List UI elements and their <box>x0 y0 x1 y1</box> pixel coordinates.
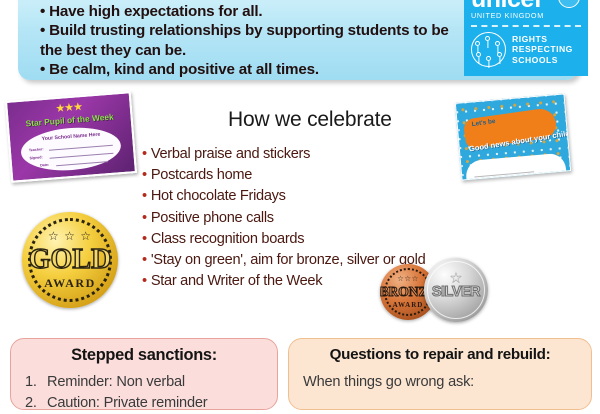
celebrate-item-text: Hot chocolate Fridays <box>151 188 286 204</box>
bullet-glyph: • <box>142 210 147 226</box>
sanctions-list-item: 1. Reminder: Non verbal <box>25 372 271 393</box>
expectation-line-3-text: Be calm, kind and positive at all times. <box>49 61 319 78</box>
gold-award-word: GOLD <box>29 244 111 276</box>
silver-award-word: SILVER <box>432 284 480 300</box>
questions-title: Questions to repair and rebuild: <box>289 346 591 363</box>
bullet-glyph: • <box>142 252 147 268</box>
questions-intro: When things go wrong ask: <box>303 372 583 393</box>
bronze-award-subtitle: AWARD <box>393 301 424 309</box>
celebrate-list-item: •Class recognition boards <box>142 229 472 250</box>
gold-award-badge-icon: ☆ ☆ ☆ GOLD AWARD <box>22 212 118 308</box>
unicef-rrsa-logo: unicef UNITED KINGDOM RIGHTS RESPECTING … <box>464 0 588 76</box>
celebrate-list-item: •Hot chocolate Fridays <box>142 186 472 207</box>
celebrate-item-text: Positive phone calls <box>151 210 274 226</box>
logo-divider <box>471 25 581 27</box>
celebrate-item-text: 'Stay on green', aim for bronze, silver … <box>151 252 426 268</box>
expectation-line-2-text: Build trusting relationships by supporti… <box>40 22 449 58</box>
stepped-sanctions-box: Stepped sanctions: 1. Reminder: Non verb… <box>10 338 278 410</box>
sanctions-item-number: 1. <box>25 372 37 393</box>
rrsa-line-rights: RIGHTS <box>512 34 573 44</box>
certificate-field-date: Date: <box>40 163 49 168</box>
rrsa-text-block: RIGHTS RESPECTING SCHOOLS <box>512 34 573 65</box>
bullet-glyph: • <box>142 188 147 204</box>
celebrate-list-item: •Postcards home <box>142 165 472 186</box>
sanctions-list: 1. Reminder: Non verbal 2. Caution: Priv… <box>25 372 271 414</box>
bullet-glyph: • <box>40 61 45 78</box>
celebrate-item-text: Verbal praise and stickers <box>151 146 310 162</box>
rrsa-line-respecting: RESPECTING <box>512 44 573 54</box>
expectations-text: • Have high expectations for all. • Buil… <box>40 2 470 80</box>
bullet-glyph: • <box>40 22 45 39</box>
certificate-stars-icon: ★★★ <box>55 100 83 115</box>
celebrate-item-text: Star and Writer of the Week <box>151 273 322 289</box>
sanctions-item-text: Reminder: Non verbal <box>47 372 185 393</box>
celebrate-item-text: Class recognition boards <box>151 231 304 247</box>
certificate-title: Star Pupil of the Week <box>25 112 114 129</box>
repair-questions-box: Questions to repair and rebuild: When th… <box>288 338 592 410</box>
children-circle-icon <box>471 32 506 67</box>
rrsa-emblem-row: RIGHTS RESPECTING SCHOOLS <box>471 32 581 67</box>
bullet-glyph: • <box>142 167 147 183</box>
expectation-line-1: • Have high expectations for all. <box>40 2 470 21</box>
celebrate-heading: How we celebrate <box>228 108 392 132</box>
sanctions-list-item: 2. Caution: Private reminder <box>25 393 271 414</box>
gold-award-subtitle: AWARD <box>44 276 96 291</box>
rrsa-line-schools: SCHOOLS <box>512 55 573 65</box>
celebrate-list-item: •Verbal praise and stickers <box>142 144 472 165</box>
gold-stars-icon: ☆ ☆ ☆ <box>48 229 92 243</box>
star-pupil-certificate-image: ★★★ Star Pupil of the Week Your School N… <box>5 91 137 183</box>
sanctions-title: Stepped sanctions: <box>11 346 277 365</box>
sanctions-item-text: Caution: Private reminder <box>47 393 207 414</box>
unicef-country-label: UNITED KINGDOM <box>471 11 581 20</box>
bullet-glyph: • <box>142 273 147 289</box>
bronze-stars-icon: ☆☆☆ <box>397 274 419 283</box>
celebrate-item-text: Postcards home <box>151 167 252 183</box>
silver-award-badge-icon: ☆ SILVER <box>424 258 488 322</box>
bullet-glyph: • <box>40 3 45 20</box>
good-news-postcard-image: Let's be Good news about your child! <box>455 93 571 180</box>
celebrate-list-item: •Positive phone calls <box>142 208 472 229</box>
bullet-glyph: • <box>142 146 147 162</box>
sanctions-item-number: 2. <box>25 393 37 414</box>
expectation-line-1-text: Have high expectations for all. <box>49 3 262 20</box>
bullet-glyph: • <box>142 231 147 247</box>
expectation-line-3: • Be calm, kind and positive at all time… <box>40 60 470 79</box>
expectation-line-2: • Build trusting relationships by suppor… <box>40 21 470 60</box>
